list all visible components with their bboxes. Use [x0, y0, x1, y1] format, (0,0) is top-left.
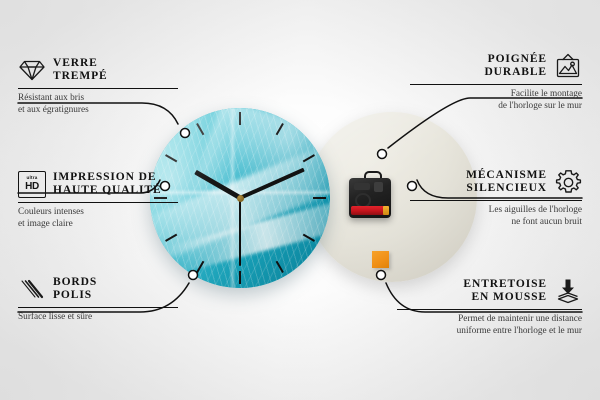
feature-subtitle-line1: Les aiguilles de l'horloge — [410, 205, 582, 217]
feature-header: ENTRETOISE EN MOUSSE — [397, 277, 582, 305]
feature-title: ENTRETOISE EN MOUSSE — [463, 278, 547, 305]
feature-mecanisme-silencieux: MÉCANISME SILENCIEUX Les aiguilles de l'… — [410, 168, 582, 228]
feature-subtitle-line1: Surface lisse et sûre — [18, 312, 178, 324]
feature-subtitle-line1: Résistant aux bris — [18, 93, 178, 105]
wall-hanger-frame-icon — [554, 52, 582, 80]
feature-impression-haute-qualite: ultra HD IMPRESSION DE HAUTE QUALITÉ Cou… — [18, 170, 178, 230]
hd-badge: ultra HD — [18, 171, 46, 198]
feature-title: POIGNÉE DURABLE — [484, 53, 547, 80]
ultra-hd-badge-icon: ultra HD — [18, 170, 46, 198]
feature-title: IMPRESSION DE HAUTE QUALITÉ — [53, 171, 162, 198]
feature-subtitle-line2: ne font aucun bruit — [410, 217, 582, 229]
feature-poignee-durable: POIGNÉE DURABLE Facilite le montage de l… — [410, 52, 582, 112]
battery-positive-terminal — [383, 206, 389, 215]
feature-divider — [410, 200, 582, 201]
feature-divider — [18, 88, 178, 89]
feature-subtitle-line1: Facilite le montage — [410, 89, 582, 101]
mechanism-detail-top-left — [354, 183, 370, 190]
mechanism-detail-top-right — [374, 182, 383, 192]
feature-header: VERRE TREMPÉ — [18, 56, 178, 84]
feature-verre-trempe: VERRE TREMPÉ Résistant aux bris et aux é… — [18, 56, 178, 116]
feature-subtitle-line2: et aux égratignures — [18, 105, 178, 117]
feature-title: MÉCANISME SILENCIEUX — [466, 169, 547, 196]
feature-divider — [18, 202, 178, 203]
diamond-icon — [18, 56, 46, 84]
feature-entretoise-en-mousse: ENTRETOISE EN MOUSSE Permet de maintenir… — [397, 277, 582, 337]
feature-divider — [397, 309, 582, 310]
feature-subtitle-line1: Couleurs intenses — [18, 207, 178, 219]
feature-divider — [18, 307, 178, 308]
feature-divider — [410, 84, 582, 85]
feature-header: MÉCANISME SILENCIEUX — [410, 168, 582, 196]
feature-header: BORDS POLIS — [18, 275, 178, 303]
feature-header: POIGNÉE DURABLE — [410, 52, 582, 80]
feature-title: BORDS POLIS — [53, 276, 97, 303]
feature-bords-polis: BORDS POLIS Surface lisse et sûre — [18, 275, 178, 324]
feature-title: VERRE TREMPÉ — [53, 57, 108, 84]
foam-spacer — [372, 251, 389, 268]
infographic-canvas: VERRE TREMPÉ Résistant aux bris et aux é… — [0, 0, 600, 400]
feature-subtitle-line2: de l'horloge sur le mur — [410, 101, 582, 113]
polished-edges-icon — [18, 275, 46, 303]
feature-header: ultra HD IMPRESSION DE HAUTE QUALITÉ — [18, 170, 178, 198]
gear-icon — [554, 168, 582, 196]
feature-subtitle-line2: uniforme entre l'horloge et le mur — [397, 326, 582, 338]
feature-subtitle-line2: et image claire — [18, 219, 178, 231]
feature-subtitle-line1: Permet de maintenir une distance — [397, 314, 582, 326]
foam-spacer-arrow-icon — [554, 277, 582, 305]
